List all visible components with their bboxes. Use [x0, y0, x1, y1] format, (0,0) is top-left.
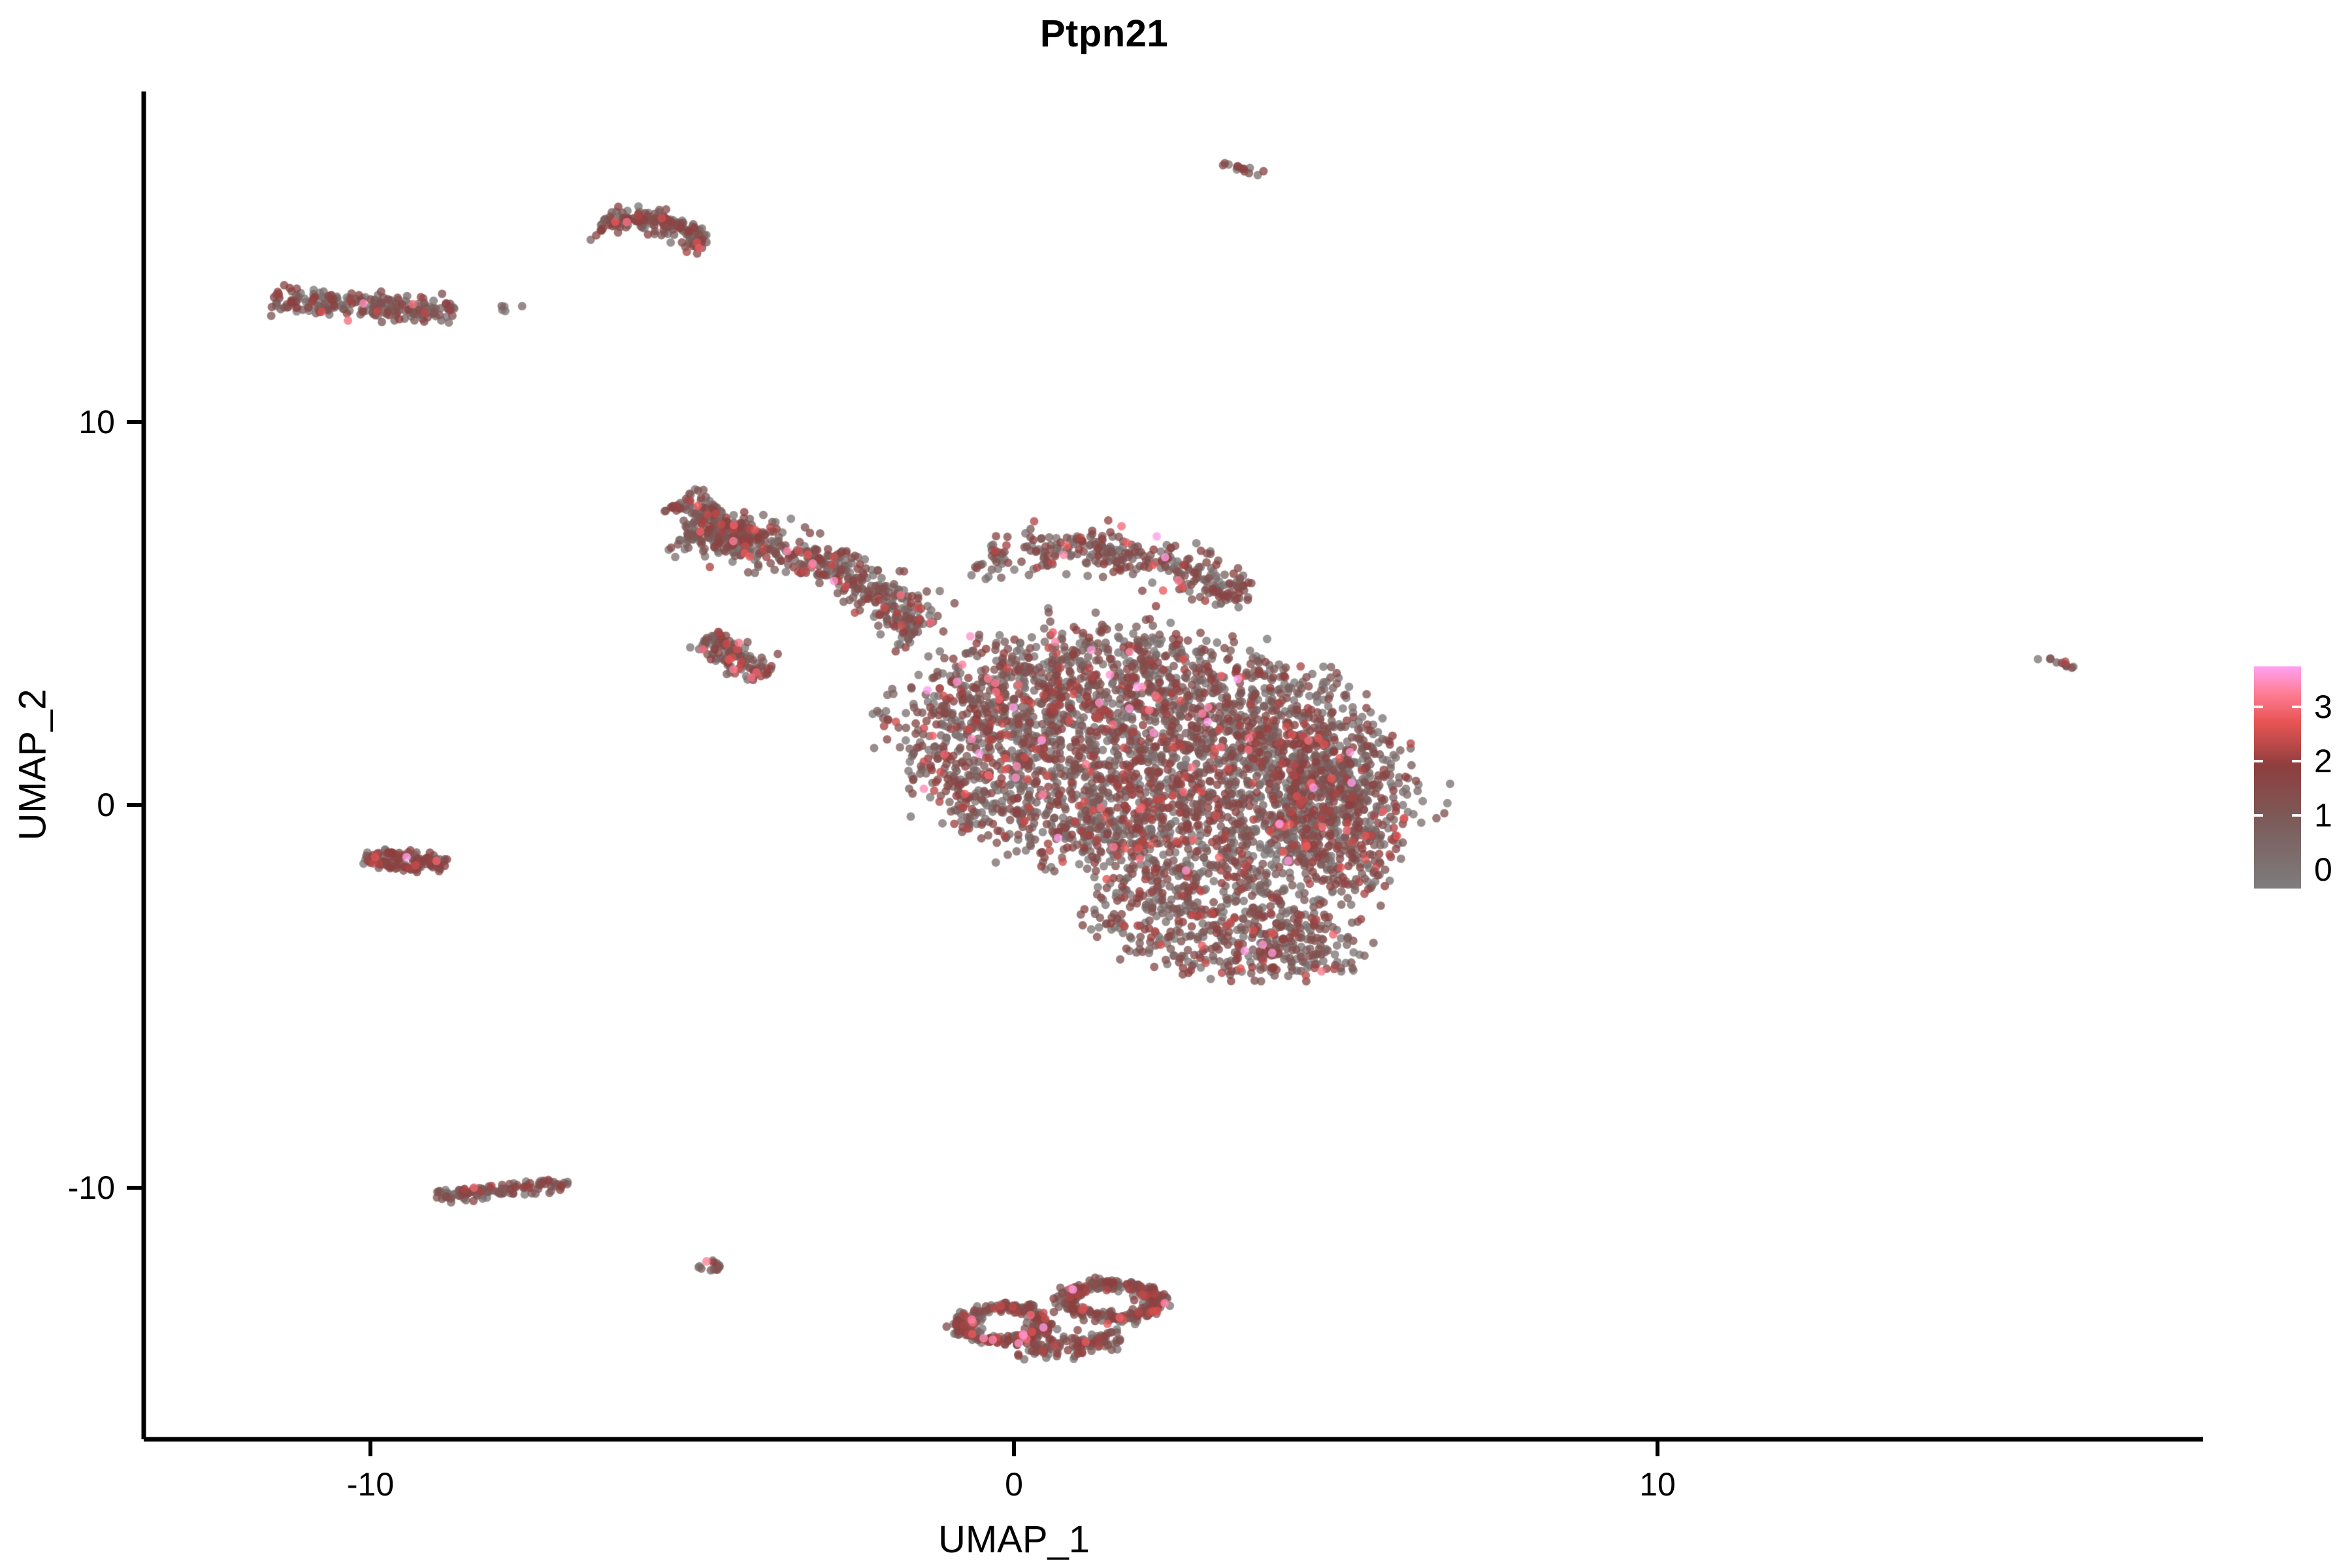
x-axis-title: UMAP_1 [753, 1518, 1275, 1561]
x-tick-label: 10 [1639, 1465, 1676, 1503]
colorbar-tick [2254, 814, 2263, 817]
colorbar-tick-label: 0 [2314, 851, 2332, 889]
colorbar-tick [2254, 760, 2263, 762]
colorbar-tick-label: 2 [2314, 742, 2332, 780]
colorbar-tick-label: 1 [2314, 796, 2332, 834]
colorbar-tick [2292, 706, 2301, 708]
y-axis-title: UMAP_2 [11, 660, 55, 869]
colorbar-tick [2292, 760, 2301, 762]
x-tick-label: 0 [1005, 1465, 1023, 1503]
colorbar-tick [2254, 706, 2263, 708]
colorbar-legend: 0123 [2254, 666, 2345, 889]
umap-feature-plot: Ptpn21 -10010 -10010 UMAP_2 UMAP_1 0123 [0, 0, 2352, 1568]
scatter-points-canvas [0, 0, 2352, 1568]
colorbar-tick [2292, 814, 2301, 817]
colorbar-gradient [2254, 666, 2301, 889]
x-tick-label: -10 [347, 1465, 394, 1503]
y-tick-label: 10 [0, 403, 115, 441]
y-tick-label: -10 [0, 1169, 115, 1207]
colorbar-tick-label: 3 [2314, 688, 2332, 726]
